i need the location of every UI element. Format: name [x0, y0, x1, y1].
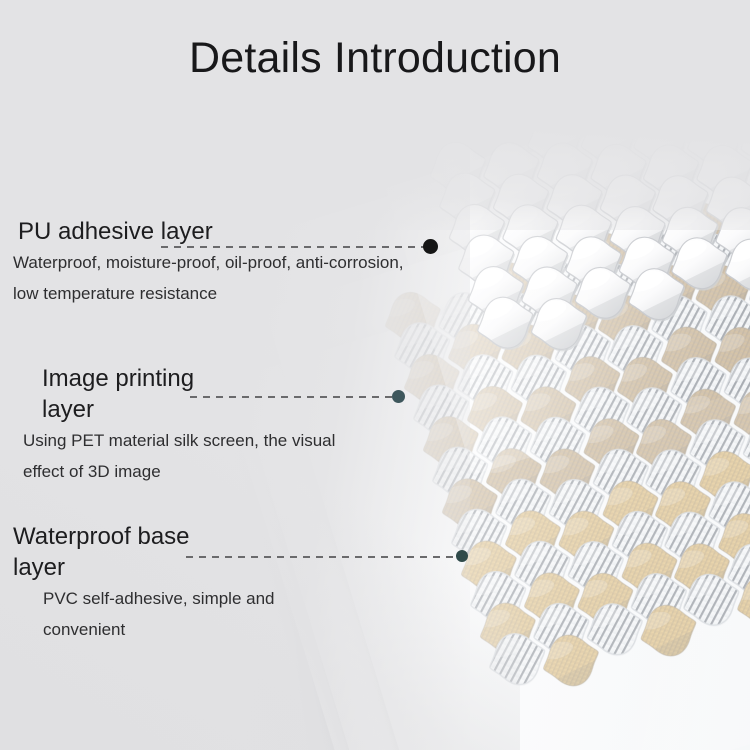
callout-heading-print-line2: layer: [13, 394, 335, 425]
leader-line-print: [190, 396, 395, 398]
callout-desc-pu-line2: low temperature resistance: [13, 278, 404, 309]
leader-dot-pu: [423, 239, 438, 254]
callout-heading-pu: PU adhesive layer: [13, 216, 404, 247]
callout-desc-base-line1: PVC self-adhesive, simple and: [13, 583, 275, 614]
callout-heading-base-line1: Waterproof base: [13, 521, 275, 552]
callout-waterproof-base-layer: Waterproof base layer PVC self-adhesive,…: [13, 521, 275, 645]
callout-image-printing-layer: Image printing layer Using PET material …: [13, 363, 335, 487]
illustration-canvas: Details Introduction PU adhesive layer W…: [0, 0, 750, 750]
callout-desc-base-line2: convenient: [13, 614, 275, 645]
leader-line-base: [186, 556, 458, 558]
page-title: Details Introduction: [0, 37, 750, 80]
callout-desc-print-line1: Using PET material silk screen, the visu…: [13, 425, 335, 456]
callout-pu-adhesive-layer: PU adhesive layer Waterproof, moisture-p…: [13, 216, 404, 309]
leader-dot-print: [392, 390, 405, 403]
leader-line-pu: [161, 246, 427, 248]
leader-dot-base: [456, 550, 468, 562]
callout-desc-pu-line1: Waterproof, moisture-proof, oil-proof, a…: [13, 247, 404, 278]
callout-desc-print-line2: effect of 3D image: [13, 456, 335, 487]
callout-heading-print-line1: Image printing: [13, 363, 335, 394]
